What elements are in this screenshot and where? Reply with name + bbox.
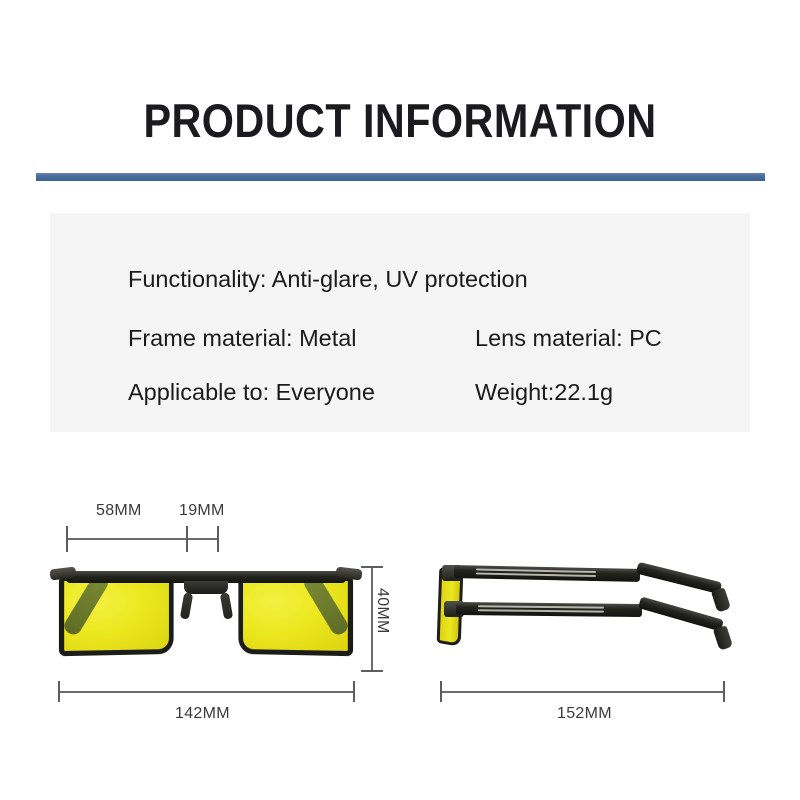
glasses-front-view (56, 563, 356, 661)
dim-rule-top (66, 538, 218, 540)
temple-arm-left-ghost (61, 576, 111, 638)
spec-functionality: Functionality: Anti-glare, UV protection (128, 266, 528, 292)
dim-rule-temple-length (440, 691, 725, 693)
nose-pad-left (180, 592, 193, 619)
dim-label-lens-width: 58MM (96, 502, 142, 520)
lens-left (59, 576, 174, 656)
temple-bend-bottom (638, 596, 724, 631)
page-title: PRODUCT INFORMATION (48, 96, 752, 146)
spec-weight: Weight:22.1g (475, 379, 613, 405)
lens-right (238, 576, 353, 656)
dim-tick-height-top (361, 566, 383, 568)
temple-bend-top (636, 562, 722, 594)
temple-stripe-bottom-1 (478, 605, 604, 608)
nose-pad-right (220, 592, 233, 619)
temple-stripe-bottom-2 (478, 609, 604, 612)
temple-tip-bottom (713, 625, 733, 650)
dim-label-total-width: 142MM (175, 705, 230, 723)
dim-tick-lens-right (186, 526, 188, 552)
spec-lens-material: Lens material: PC (475, 325, 662, 351)
dim-tick-total-left (58, 681, 60, 702)
title-divider (36, 173, 765, 181)
dim-tick-lens-left (66, 526, 68, 552)
glasses-side-view (424, 555, 744, 667)
dim-rule-total-width (58, 691, 355, 693)
dim-tick-temple-right (723, 681, 725, 702)
temple-tip-top (711, 587, 731, 612)
dim-tick-height-bottom (361, 670, 383, 672)
spec-panel: Functionality: Anti-glare, UV protection… (50, 213, 750, 432)
spec-frame-material: Frame material: Metal (128, 325, 357, 351)
temple-arm-top (454, 565, 640, 582)
frame-bridge (184, 581, 228, 594)
dim-tick-bridge-right (217, 526, 219, 552)
dim-tick-total-right (353, 681, 355, 702)
dimension-diagram: 58MM 19MM 40MM 142MM (0, 460, 800, 740)
dim-label-temple-length: 152MM (557, 705, 612, 723)
temple-arm-right-ghost (301, 576, 351, 638)
temple-stripe-top-2 (476, 573, 596, 578)
dim-label-lens-height: 40MM (373, 588, 391, 634)
dim-label-bridge-width: 19MM (179, 502, 225, 520)
dim-tick-temple-left (440, 681, 442, 702)
temple-arm-bottom (456, 602, 642, 617)
spec-applicable-to: Applicable to: Everyone (128, 379, 375, 405)
